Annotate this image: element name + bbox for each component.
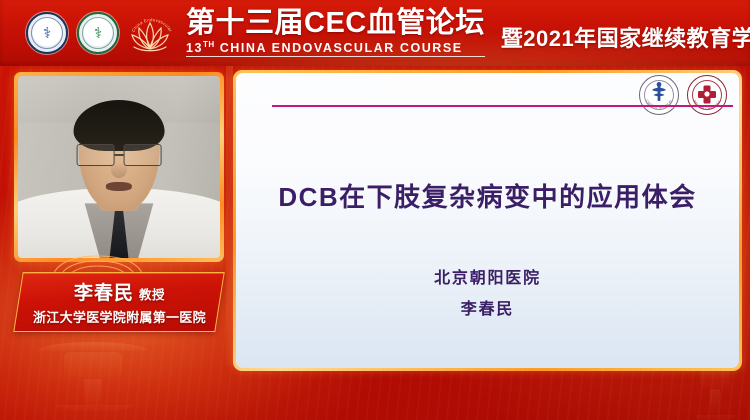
slide-title: DCB在下肢复杂病变中的应用体会: [236, 177, 739, 214]
speaker-name-line: 李春民教授: [33, 278, 206, 305]
speaker-nameplate: 李春民教授 浙江大学医学院附属第一医院: [13, 272, 225, 332]
association-logos: ⚕ ⚕: [26, 12, 172, 54]
speaker-glasses-icon: [77, 145, 162, 165]
slide-presenter: 李春民: [236, 294, 739, 325]
edition-number: 13: [186, 41, 203, 55]
banner-title-block: 第十三届CEC血管论坛 13TH CHINA ENDOVASCULAR COUR…: [186, 9, 485, 58]
event-title-en-text: CHINA ENDOVASCULAR COURSE: [220, 41, 463, 55]
slide-institution-logos: CAPITAL MEDICAL UNIVERSITY: [639, 75, 727, 115]
slide-affiliation-block: 北京朝阳医院 李春民: [236, 263, 739, 325]
event-subtitle-cn: 暨2021年国家继续教育学习班: [501, 21, 750, 53]
speaker-title: 教授: [139, 288, 165, 302]
capital-medical-university-logo: CAPITAL MEDICAL UNIVERSITY: [639, 75, 679, 115]
speaker-video-feed[interactable]: [14, 72, 224, 262]
speaker-mouth: [106, 182, 132, 191]
presentation-slide: CAPITAL MEDICAL UNIVERSITY: [236, 73, 739, 368]
lantern-ornament-left: [38, 342, 148, 412]
edition-ordinal: TH: [203, 40, 215, 49]
webcast-stage: ⚕ ⚕: [0, 0, 750, 420]
speaker-affiliation: 浙江大学医学院附属第一医院: [33, 307, 206, 326]
cec-lotus-logo: China Endovascular Course: [128, 13, 172, 53]
svg-text:China Endovascular Course: China Endovascular Course: [130, 9, 174, 34]
event-banner: ⚕ ⚕: [0, 0, 750, 66]
slide-edge-highlight: [226, 66, 233, 366]
chinese-medical-association-logo: ⚕: [26, 12, 68, 54]
event-title-en: 13TH CHINA ENDOVASCULAR COURSE: [186, 40, 485, 57]
beijing-chaoyang-hospital-logo: BEIJING CHAO YANG HOSPITAL: [687, 75, 727, 115]
slide-accent-rule: [272, 105, 733, 107]
speaker-video-surface: [18, 76, 220, 258]
speaker-name: 李春民: [73, 283, 133, 304]
event-title-cn: 第十三届CEC血管论坛: [186, 9, 485, 39]
slide-hospital: 北京朝阳医院: [236, 263, 739, 294]
vascular-society-logo: ⚕: [77, 12, 119, 54]
presentation-slide-frame[interactable]: CAPITAL MEDICAL UNIVERSITY: [233, 70, 742, 371]
